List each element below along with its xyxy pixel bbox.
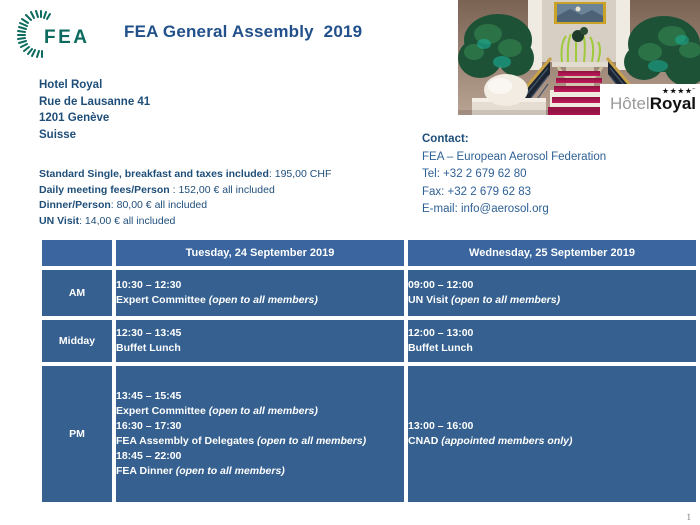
- address-line: Hotel Royal: [39, 77, 150, 94]
- contact-tel: Tel: +32 2 679 62 80: [422, 166, 606, 184]
- slot-title: FEA Dinner: [116, 465, 176, 477]
- slot-title-line: UN Visit (open to all members): [408, 293, 696, 308]
- slot-title-line: Expert Committee (open to all members): [116, 293, 404, 308]
- schedule-header-row: Tuesday, 24 September 2019 Wednesday, 25…: [41, 239, 697, 267]
- slot-tuesday-am: 10:30 – 12:30 Expert Committee (open to …: [115, 269, 405, 317]
- slot-tuesday-midday: 12:30 – 13:45 Buffet Lunch: [115, 319, 405, 363]
- table-row: PM 13:45 – 15:45 Expert Committee (open …: [41, 365, 697, 503]
- fea-logo-text: FEA: [44, 27, 90, 48]
- slot-time: 13:45 – 15:45: [116, 389, 404, 404]
- rate-line: Standard Single, breakfast and taxes inc…: [39, 167, 331, 183]
- hotel-name-bold: Royal: [650, 94, 696, 113]
- rate-value: : 14,00 € all included: [79, 215, 175, 227]
- table-row: Midday 12:30 – 13:45 Buffet Lunch 12:00 …: [41, 319, 697, 363]
- slot-title-line: FEA Dinner (open to all members): [116, 464, 404, 479]
- hotel-royal-logo: ★★★★⌐ HôtelRoyal: [600, 84, 700, 115]
- slot-note: (open to all members): [209, 294, 318, 306]
- rate-label: UN Visit: [39, 215, 79, 227]
- header-period: [41, 239, 113, 267]
- rate-line: Daily meeting fees/Person : 152,00 € all…: [39, 183, 331, 199]
- rate-label: Daily meeting fees/Person: [39, 184, 170, 196]
- slot-time: 18:45 – 22:00: [116, 449, 404, 464]
- slot-title: CNAD: [408, 435, 441, 447]
- table-row: AM 10:30 – 12:30 Expert Committee (open …: [41, 269, 697, 317]
- slot-title: FEA Assembly of Delegates: [116, 435, 257, 447]
- period-label: AM: [41, 269, 113, 317]
- slot-wednesday-pm: 13:00 – 16:00 CNAD (appointed members on…: [407, 365, 697, 503]
- contact-email: E-mail: info@aerosol.org: [422, 201, 606, 219]
- slot-note: (open to all members): [257, 435, 366, 447]
- slot-note: (open to all members): [209, 405, 318, 417]
- page-title: FEA General Assembly 2019: [124, 22, 362, 42]
- period-label: Midday: [41, 319, 113, 363]
- slot-title: UN Visit: [408, 294, 451, 306]
- rate-value: : 80,00 € all included: [111, 199, 207, 211]
- rate-line: Dinner/Person: 80,00 € all included: [39, 198, 331, 214]
- rates-block: Standard Single, breakfast and taxes inc…: [39, 167, 331, 229]
- slot-title: Expert Committee: [116, 294, 209, 306]
- period-label: PM: [41, 365, 113, 503]
- header-wednesday: Wednesday, 25 September 2019: [407, 239, 697, 267]
- hotel-address-block: Hotel Royal Rue de Lausanne 41 1201 Genè…: [39, 77, 150, 143]
- slot-time: 13:00 – 16:00: [408, 419, 696, 434]
- slot-note: (open to all members): [451, 294, 560, 306]
- rate-value: : 152,00 € all included: [170, 184, 275, 196]
- rate-value: : 195,00 CHF: [269, 168, 331, 180]
- slot-tuesday-pm: 13:45 – 15:45 Expert Committee (open to …: [115, 365, 405, 503]
- address-line: 1201 Genève: [39, 110, 150, 127]
- header-tuesday: Tuesday, 24 September 2019: [115, 239, 405, 267]
- schedule-table: Tuesday, 24 September 2019 Wednesday, 25…: [39, 237, 699, 505]
- hotel-lobby-photo: ★★★★⌐ HôtelRoyal: [458, 0, 700, 115]
- slot-title-line: Buffet Lunch: [116, 341, 404, 356]
- rate-line: UN Visit: 14,00 € all included: [39, 214, 331, 230]
- slot-time: 10:30 – 12:30: [116, 278, 404, 293]
- hotel-name-light: Hôtel: [610, 94, 650, 113]
- contact-organisation: FEA – European Aerosol Federation: [422, 149, 606, 167]
- slot-title-line: CNAD (appointed members only): [408, 434, 696, 449]
- slot-time: 09:00 – 12:00: [408, 278, 696, 293]
- contact-fax: Fax: +32 2 679 62 83: [422, 184, 606, 202]
- slot-wednesday-am: 09:00 – 12:00 UN Visit (open to all memb…: [407, 269, 697, 317]
- slot-title-line: Buffet Lunch: [408, 341, 696, 356]
- rate-label: Dinner/Person: [39, 199, 111, 211]
- fea-logo-mark: FEA: [14, 9, 102, 61]
- slot-title-line: Expert Committee (open to all members): [116, 404, 404, 419]
- slot-time: 12:30 – 13:45: [116, 326, 404, 341]
- address-line: Rue de Lausanne 41: [39, 94, 150, 111]
- slot-title: Buffet Lunch: [116, 342, 181, 354]
- slot-time: 12:00 – 13:00: [408, 326, 696, 341]
- slot-wednesday-midday: 12:00 – 13:00 Buffet Lunch: [407, 319, 697, 363]
- address-line: Suisse: [39, 127, 150, 144]
- rate-label: Standard Single, breakfast and taxes inc…: [39, 168, 269, 180]
- slot-note: (open to all members): [176, 465, 285, 477]
- slot-title: Buffet Lunch: [408, 342, 473, 354]
- fea-logo: FEA: [14, 9, 102, 61]
- contact-heading: Contact:: [422, 131, 606, 149]
- slot-title-line: FEA Assembly of Delegates (open to all m…: [116, 434, 404, 449]
- contact-block: Contact: FEA – European Aerosol Federati…: [422, 131, 606, 219]
- slot-note: (appointed members only): [441, 435, 572, 447]
- slot-title: Expert Committee: [116, 405, 209, 417]
- slot-time: 16:30 – 17:30: [116, 419, 404, 434]
- page-number: 1: [687, 512, 692, 522]
